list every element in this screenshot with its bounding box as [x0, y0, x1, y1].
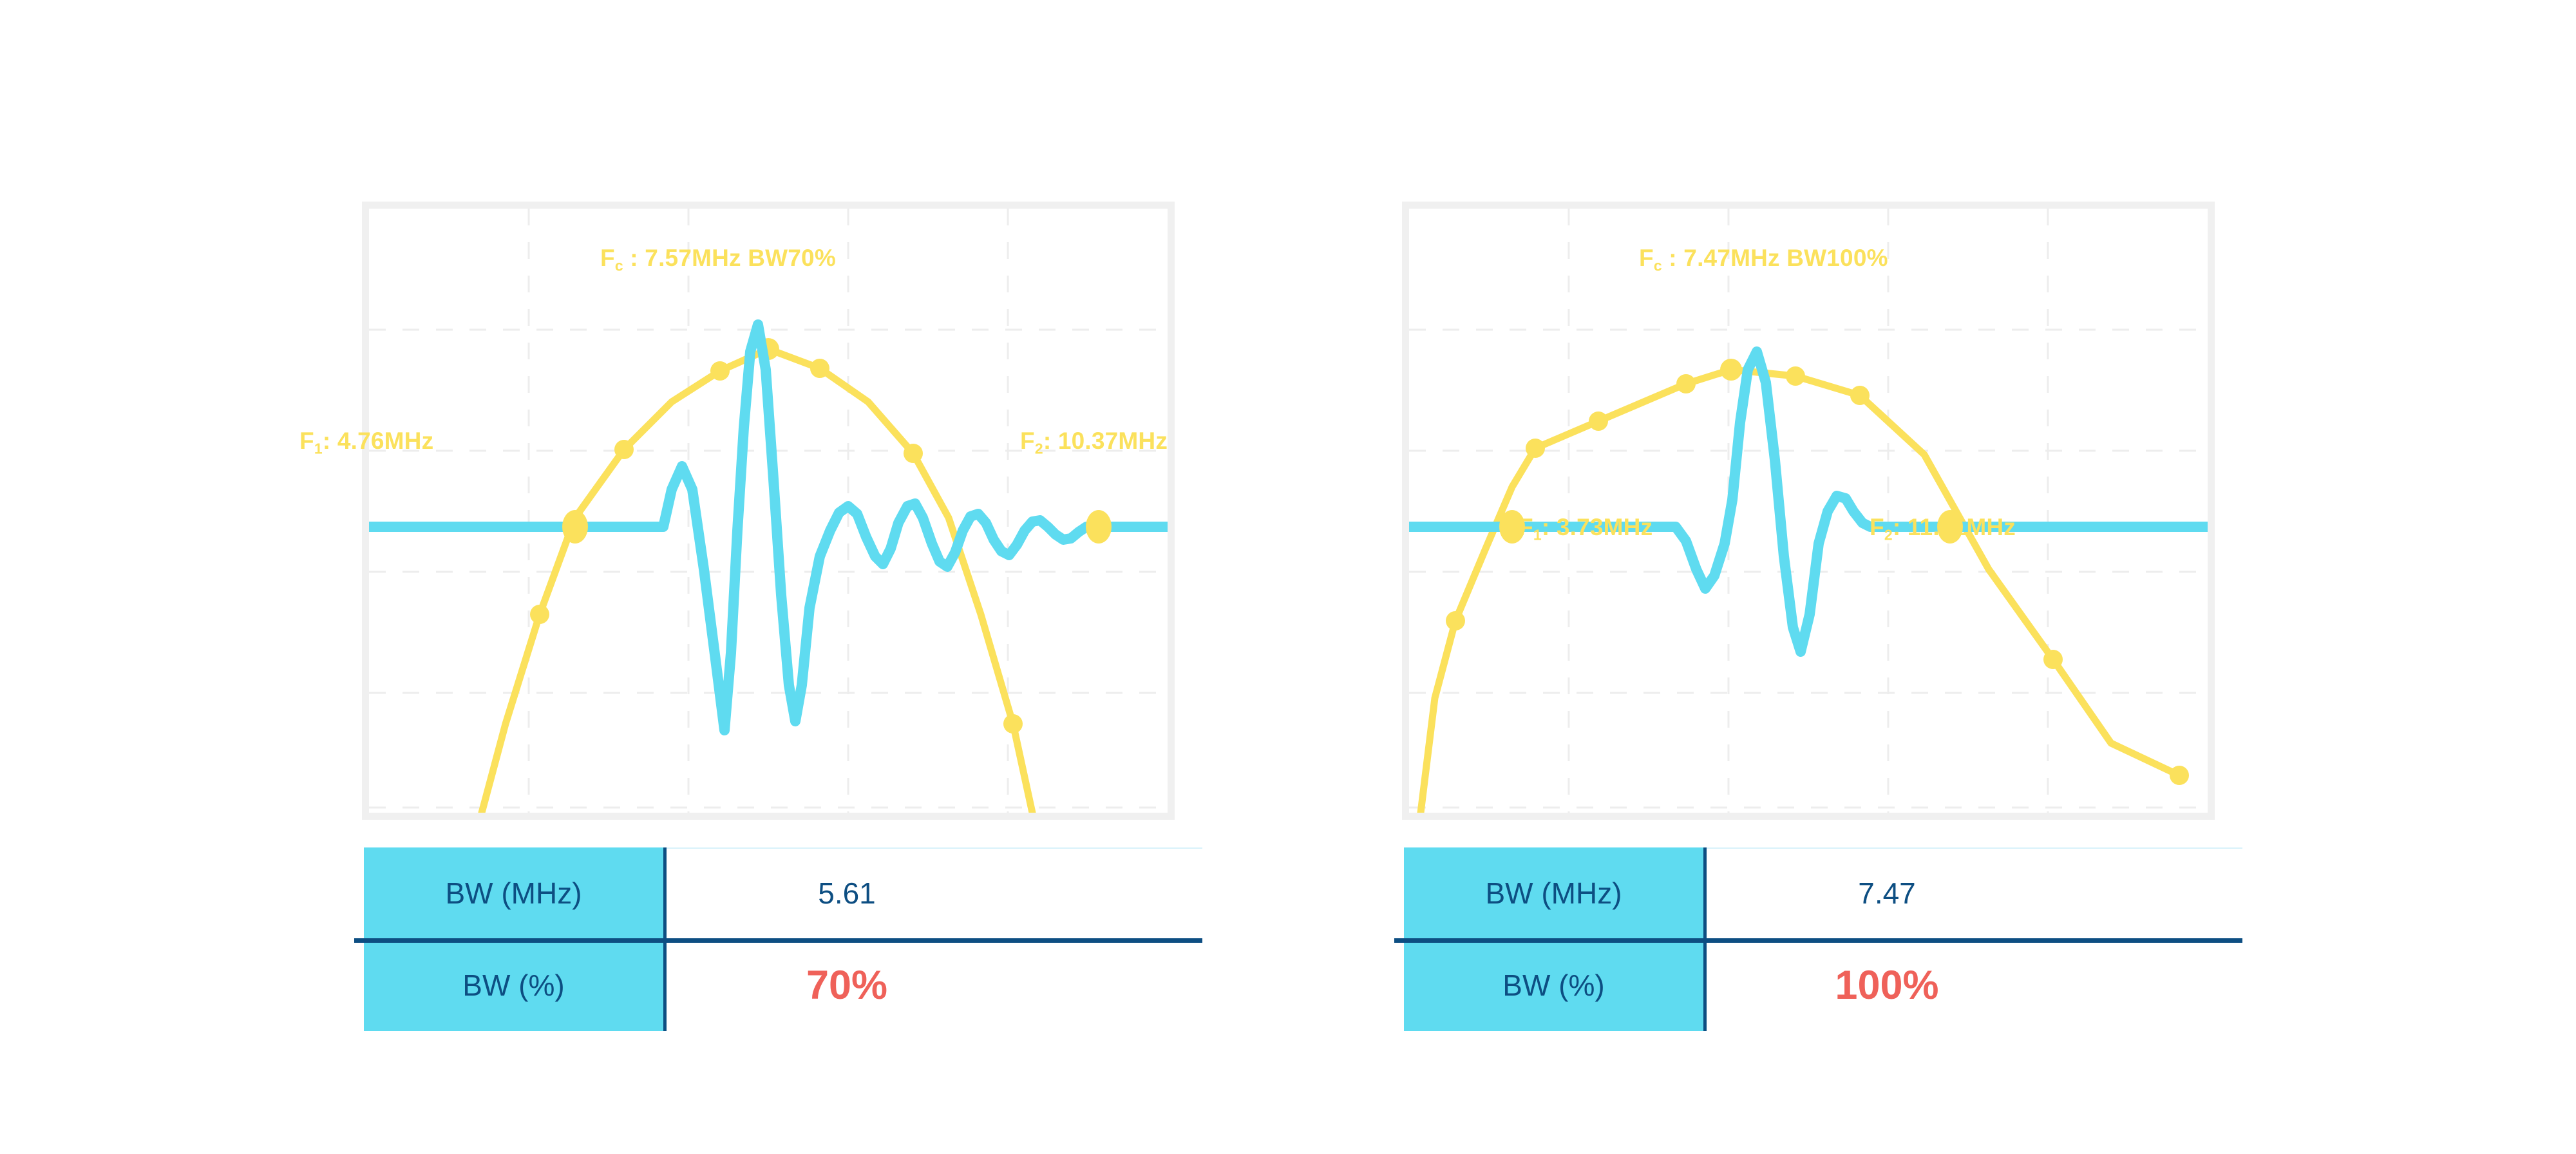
figure-root: Fc : 7.57MHz BW70% F1: 4.76MHz F2: 10.37…: [0, 0, 2576, 1154]
right-plot-frame: [1402, 202, 2215, 820]
left-bw-percent-value: 70%: [806, 962, 887, 1008]
right-f1-label: F1: 3.73MHz: [1519, 515, 1653, 542]
panel-right: Fc : 7.47MHz BW100% F1: 3.73MHz F2: 11.2…: [1388, 0, 2576, 1154]
left-table-row0-header: BW (MHz): [364, 847, 663, 939]
right-table-row0-value: 7.47: [1707, 847, 2067, 939]
left-gridlines: [369, 209, 1168, 813]
right-bw-percent-value: 100%: [1835, 962, 1938, 1008]
left-plot-area: [369, 209, 1168, 813]
right-spectrum-curve: [1421, 370, 2179, 813]
right-f2-label: F2: 11.21MHz: [1870, 515, 2016, 542]
right-bw-mhz-value: 7.47: [1858, 876, 1916, 911]
left-bw-mhz-value: 5.61: [818, 876, 876, 911]
right-table-row1-header: BW (%): [1404, 940, 1703, 1031]
right-gridlines: [1409, 209, 2208, 813]
left-pulse-waveform: [369, 325, 1168, 730]
left-fc-label: Fc : 7.57MHz BW70%: [600, 246, 836, 273]
left-plot-frame: [362, 202, 1175, 820]
right-table-row0-header: BW (MHz): [1404, 847, 1703, 939]
left-plot-svg: [369, 209, 1168, 813]
right-pulse-waveform: [1409, 352, 2208, 652]
left-f1-label: F1: 4.76MHz: [299, 429, 433, 456]
right-fc-label: Fc : 7.47MHz BW100%: [1639, 246, 1888, 273]
right-plot-area: [1409, 209, 2208, 813]
left-f2-label: F2: 10.37MHz: [1020, 429, 1168, 456]
right-table-row1-value: 100%: [1707, 940, 2067, 1031]
left-table-row1-value: 70%: [667, 940, 1027, 1031]
right-plot-svg: [1409, 209, 2208, 813]
left-table-row1-header: BW (%): [364, 940, 663, 1031]
left-spectrum-curve: [482, 349, 1032, 813]
left-bw-table: BW (MHz) 5.61 BW (%) 70%: [364, 847, 1202, 1031]
left-table-row0-value: 5.61: [667, 847, 1027, 939]
right-bw-table: BW (MHz) 7.47 BW (%) 100%: [1404, 847, 2242, 1031]
